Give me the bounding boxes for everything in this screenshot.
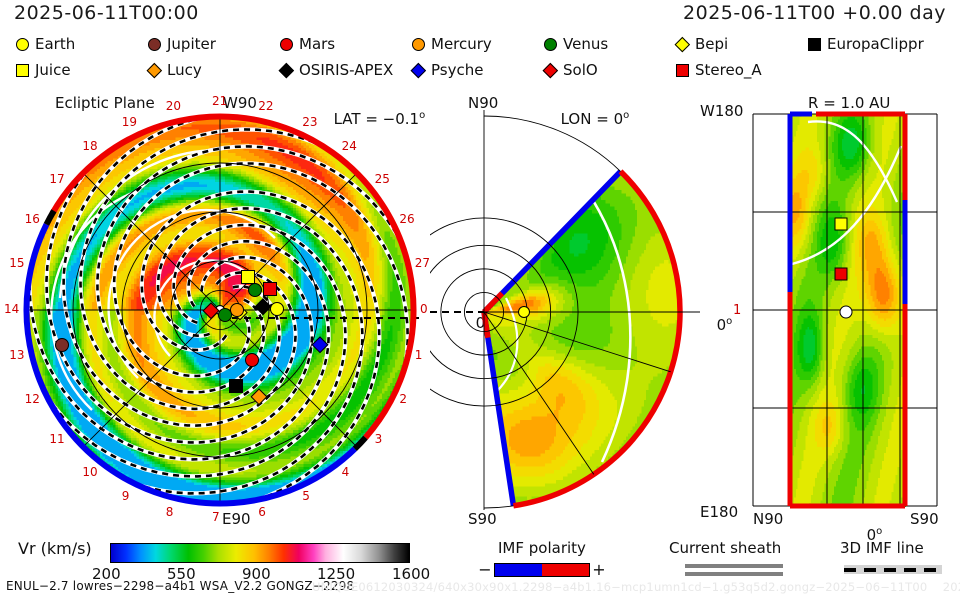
sheath-line-lower [685, 572, 783, 576]
footer-watermark: UNIQUE0612030324/640x30x90x1.2298−a4b1.1… [312, 582, 960, 594]
polarity-positive-swatch [542, 564, 589, 576]
ecliptic-hour-label: 2 [399, 393, 407, 405]
degree-symbol-icon: o [726, 316, 732, 327]
radial-title: R = 1.0 AU [808, 96, 890, 111]
ecliptic-hour-label: 27 [415, 257, 430, 269]
legend-marker-diamond-icon [542, 62, 558, 78]
sheath-line-upper [685, 564, 783, 568]
meridional-bottom-label: S90 [468, 512, 497, 527]
imf-3d-line-legend: 3D IMF line [840, 541, 942, 574]
colorbar-label: Vr (km/s) [18, 541, 92, 557]
legend-label: Bepi [695, 35, 728, 53]
current-sheath-legend: Current sheath [669, 541, 783, 576]
ecliptic-hour-label: 1 [415, 349, 423, 361]
legend-label: EuropaClippr [827, 35, 924, 53]
legend-item-stereo-a: Stereo_A [674, 60, 762, 80]
radial-plot [745, 110, 945, 510]
ecliptic-hour-label: 23 [302, 116, 317, 128]
imf-3d-line-title: 3D IMF line [840, 541, 942, 556]
current-sheath-swatch [685, 564, 783, 576]
ecliptic-hour-label: 17 [49, 173, 64, 185]
ecliptic-hour-label: 4 [342, 466, 350, 478]
colorbar-gradient [110, 543, 410, 563]
imf-polarity-bar [494, 563, 590, 577]
legend-item-bepi: Bepi [674, 34, 728, 54]
ecliptic-hour-label: 25 [375, 173, 390, 185]
ecliptic-hour-label: 11 [49, 433, 64, 445]
ecliptic-hour-label: 15 [9, 257, 24, 269]
ecliptic-hour-label: 24 [342, 140, 357, 152]
legend-marker-circle-icon [542, 36, 558, 52]
imf-polarity-legend: IMF polarity − + [498, 541, 608, 578]
ecliptic-hour-label: 26 [399, 213, 414, 225]
radial-xtick-n90: N90 [753, 512, 783, 527]
legend-item-solo: SolO [542, 60, 598, 80]
ecliptic-hour-label: 8 [166, 506, 174, 518]
ecliptic-hour-label: 14 [4, 303, 19, 315]
ecliptic-hour-label: 18 [82, 140, 97, 152]
radial-bottom-left-label: E180 [700, 505, 738, 520]
ecliptic-hour-labels: 0123456789101112131415161718192021222324… [0, 0, 480, 540]
legend-marker-diamond-icon [674, 36, 690, 52]
ecliptic-hour-label: 22 [258, 100, 273, 112]
ecliptic-hour-label: 13 [9, 349, 24, 361]
legend-marker-square-icon [674, 62, 690, 78]
legend-label: Venus [563, 35, 608, 53]
ecliptic-hour-label: 21 [212, 95, 227, 107]
polarity-plus-sign: + [590, 562, 608, 578]
polarity-minus-sign: − [476, 562, 494, 578]
ecliptic-hour-label: 9 [122, 490, 130, 502]
current-sheath-title: Current sheath [669, 541, 783, 556]
ecliptic-hour-label: 10 [82, 466, 97, 478]
meridional-top-label: N90 [468, 96, 498, 111]
ecliptic-hour-label: 19 [122, 116, 137, 128]
ecliptic-hour-label: 6 [258, 506, 266, 518]
radial-ytick-1: 1 [733, 304, 741, 317]
imf-3d-line-swatch [844, 565, 942, 574]
ecliptic-hour-label: 7 [212, 511, 220, 523]
imf-polarity-title: IMF polarity [498, 541, 608, 556]
ecliptic-hour-label: 16 [25, 213, 40, 225]
footer-model-id: ENUL−2.7 lowres−2298−a4b1 WSA_V2.2 GONGZ… [6, 580, 354, 592]
legend-label: Stereo_A [695, 61, 762, 79]
enlil-visualization: 2025-06-11T00:00 2025-06-11T00 +0.00 day… [0, 0, 960, 600]
ecliptic-hour-label: 5 [302, 490, 310, 502]
legend-item-europaclippr: EuropaClippr [806, 34, 924, 54]
legend-label: SolO [563, 61, 598, 79]
meridional-plot [430, 110, 700, 510]
ecliptic-hour-label: 12 [25, 393, 40, 405]
polarity-negative-swatch [495, 564, 542, 576]
legend-item-venus: Venus [542, 34, 608, 54]
header-step-label: 2025-06-11T00 +0.00 day [683, 4, 946, 23]
ecliptic-hour-label: 20 [166, 100, 181, 112]
ecliptic-hour-label: 3 [375, 433, 383, 445]
degree-symbol-icon: o [876, 526, 882, 537]
ecliptic-hour-label: 0 [420, 303, 428, 315]
colorbar: 20055090012501600 [110, 543, 410, 563]
radial-top-left-label: W180 [700, 104, 743, 119]
legend-marker-square-icon [806, 36, 822, 52]
radial-xtick-s90: S90 [910, 512, 939, 527]
